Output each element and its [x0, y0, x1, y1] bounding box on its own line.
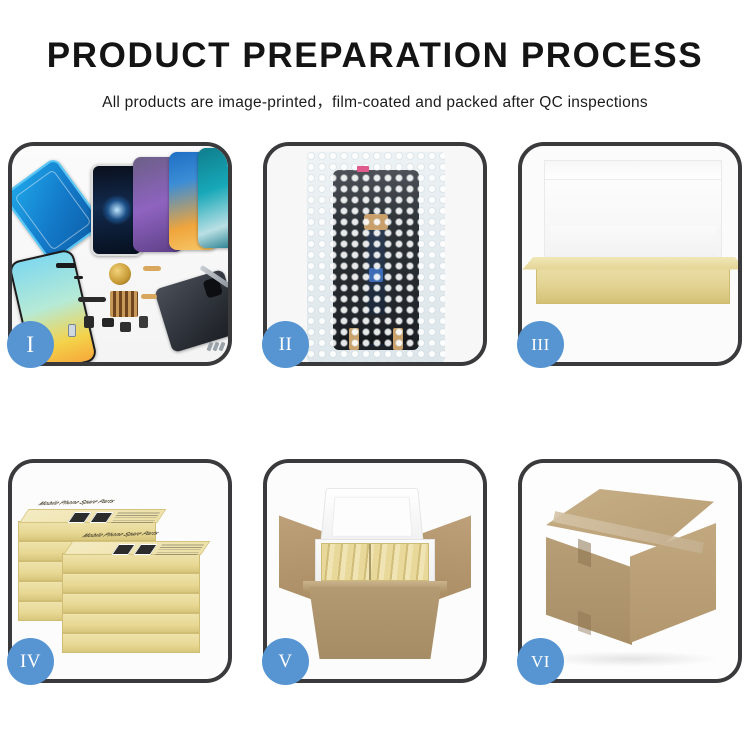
step-badge-3: III	[517, 321, 564, 368]
process-step-grid: I II III	[8, 142, 742, 698]
vibrator-part	[102, 318, 114, 327]
process-step-panel-1: I	[8, 142, 232, 366]
phone-screen-teal	[198, 148, 228, 248]
retail-box	[62, 573, 200, 593]
process-step-panel-2: II	[263, 142, 487, 366]
bubble-wrap-bag	[307, 152, 445, 362]
page-title: PRODUCT PREPARATION PROCESS	[0, 38, 750, 73]
chip-array-part	[110, 291, 138, 317]
page-subtitle: All products are image-printed，film-coat…	[0, 90, 750, 112]
flex-cable-part-c	[143, 266, 161, 271]
retail-box	[62, 633, 200, 653]
retail-box-label: Mobile Phone Spare Parts	[35, 499, 118, 507]
header: PRODUCT PREPARATION PROCESS All products…	[0, 0, 750, 112]
box-spec-lines	[111, 511, 161, 523]
lcd-screen-assembly	[333, 170, 419, 350]
process-step-panel-4: Mobile Phone Spare Parts Mobile Phone Sp…	[8, 459, 232, 683]
step-badge-2: II	[262, 321, 309, 368]
retail-box	[62, 593, 200, 613]
carton-body	[309, 587, 441, 659]
retail-box: Mobile Phone Spare Parts	[62, 553, 200, 573]
pink-qc-label	[357, 166, 369, 172]
step-badge-5: V	[262, 638, 309, 685]
yellow-kraft-tray	[536, 264, 730, 304]
flex-cable-part-d	[141, 294, 157, 299]
packed-retail-boxes	[321, 543, 429, 581]
step-badge-1: I	[7, 321, 54, 368]
box-spec-lines	[155, 543, 205, 555]
screws-group	[208, 342, 226, 352]
step-badge-4: IV	[7, 638, 54, 685]
process-step-panel-3: III	[518, 142, 742, 366]
retail-box-stack: Mobile Phone Spare Parts Mobile Phone Sp…	[18, 485, 224, 665]
lcd-connector-board	[339, 314, 413, 344]
phone-back-housing	[154, 269, 228, 353]
lcd-flex-cable	[367, 228, 385, 346]
step-badge-6: VI	[517, 638, 564, 685]
sim-tray-part	[68, 324, 76, 337]
connector-part	[120, 322, 131, 332]
carton-seam-bottom	[578, 611, 591, 636]
retail-box	[62, 613, 200, 633]
carton-shadow	[540, 651, 720, 667]
flex-cable-part-b	[78, 297, 106, 302]
carton-seam-top	[578, 539, 591, 568]
product-preparation-infographic: PRODUCT PREPARATION PROCESS All products…	[0, 0, 750, 750]
process-step-panel-6: VI	[518, 459, 742, 683]
camera-module-part	[84, 316, 94, 328]
process-step-panel-5: V	[263, 459, 487, 683]
speaker-coil-part	[109, 263, 131, 285]
earpiece-mesh-part	[56, 263, 76, 268]
flex-cable-part-a	[74, 276, 83, 279]
button-part	[139, 316, 148, 328]
